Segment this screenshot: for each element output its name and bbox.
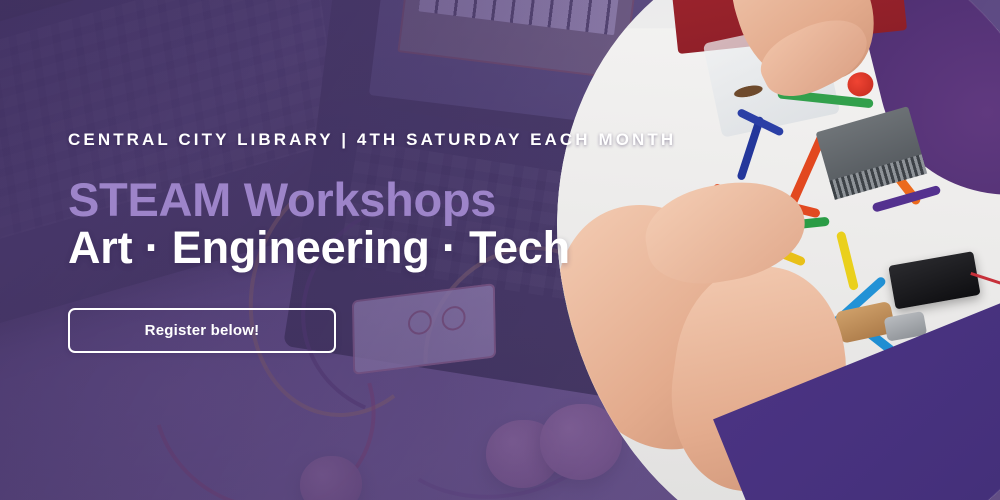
headline-line-2: Art · Engineering · Tech	[68, 225, 628, 270]
event-details-eyebrow: CENTRAL CITY LIBRARY | 4TH SATURDAY EACH…	[68, 130, 628, 150]
headline-line-1: STEAM Workshops	[68, 176, 628, 223]
banner-content: CENTRAL CITY LIBRARY | 4TH SATURDAY EACH…	[68, 130, 628, 353]
event-banner: CENTRAL CITY LIBRARY | 4TH SATURDAY EACH…	[0, 0, 1000, 500]
page-title: STEAM Workshops Art · Engineering · Tech	[68, 176, 628, 270]
register-button[interactable]: Register below!	[68, 308, 336, 353]
